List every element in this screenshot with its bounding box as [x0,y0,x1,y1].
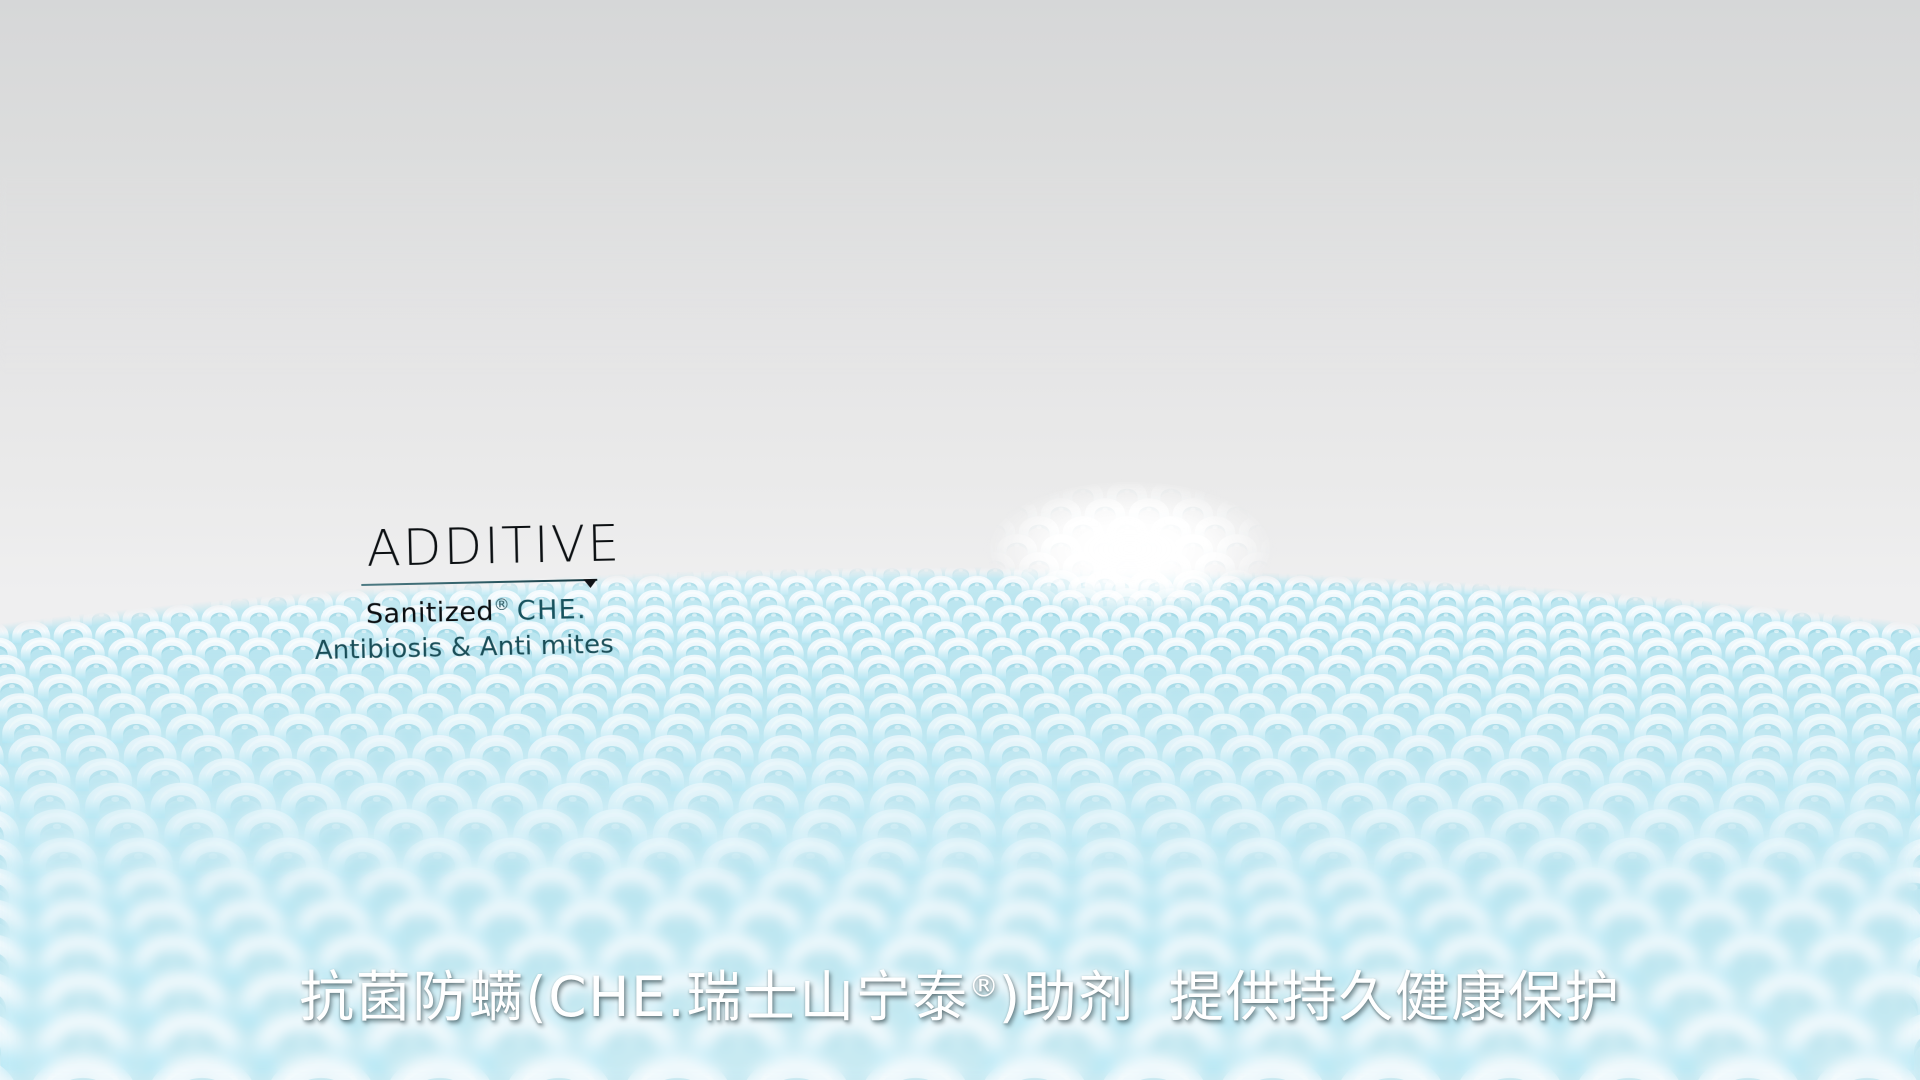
fabric-mound-shape [0,176,1920,1080]
fabric-white-haze [0,176,1920,1080]
logo-headline: ADDITIVE [360,514,801,574]
subtitle-registered-mark-icon: ® [969,970,999,1005]
logo-underline [361,579,597,586]
registered-mark-icon: ® [494,595,510,614]
subtitle-segment-3: 提供持久健康保护 [1169,965,1621,1029]
logo-brand-suffix: CHE. [517,594,588,627]
logo-brand-line: Sanitized®CHE. [362,589,803,630]
knit-fabric-surface [0,176,1920,1080]
triangle-down-icon [583,579,597,588]
subtitle-segment-1: 抗菌防螨(CHE.瑞士山宁泰 [299,965,968,1029]
video-frame: ADDITIVE Sanitized®CHE. Antibiosis & Ant… [0,0,1920,1080]
chinese-subtitle: 抗菌防螨(CHE.瑞士山宁泰®)助剂提供持久健康保护 [0,952,1920,1032]
logo-brand-name: Sanitized [366,596,495,630]
subtitle-segment-2: )助剂 [999,965,1135,1029]
additive-logo-block: ADDITIVE Sanitized®CHE. Antibiosis & Ant… [360,514,803,666]
